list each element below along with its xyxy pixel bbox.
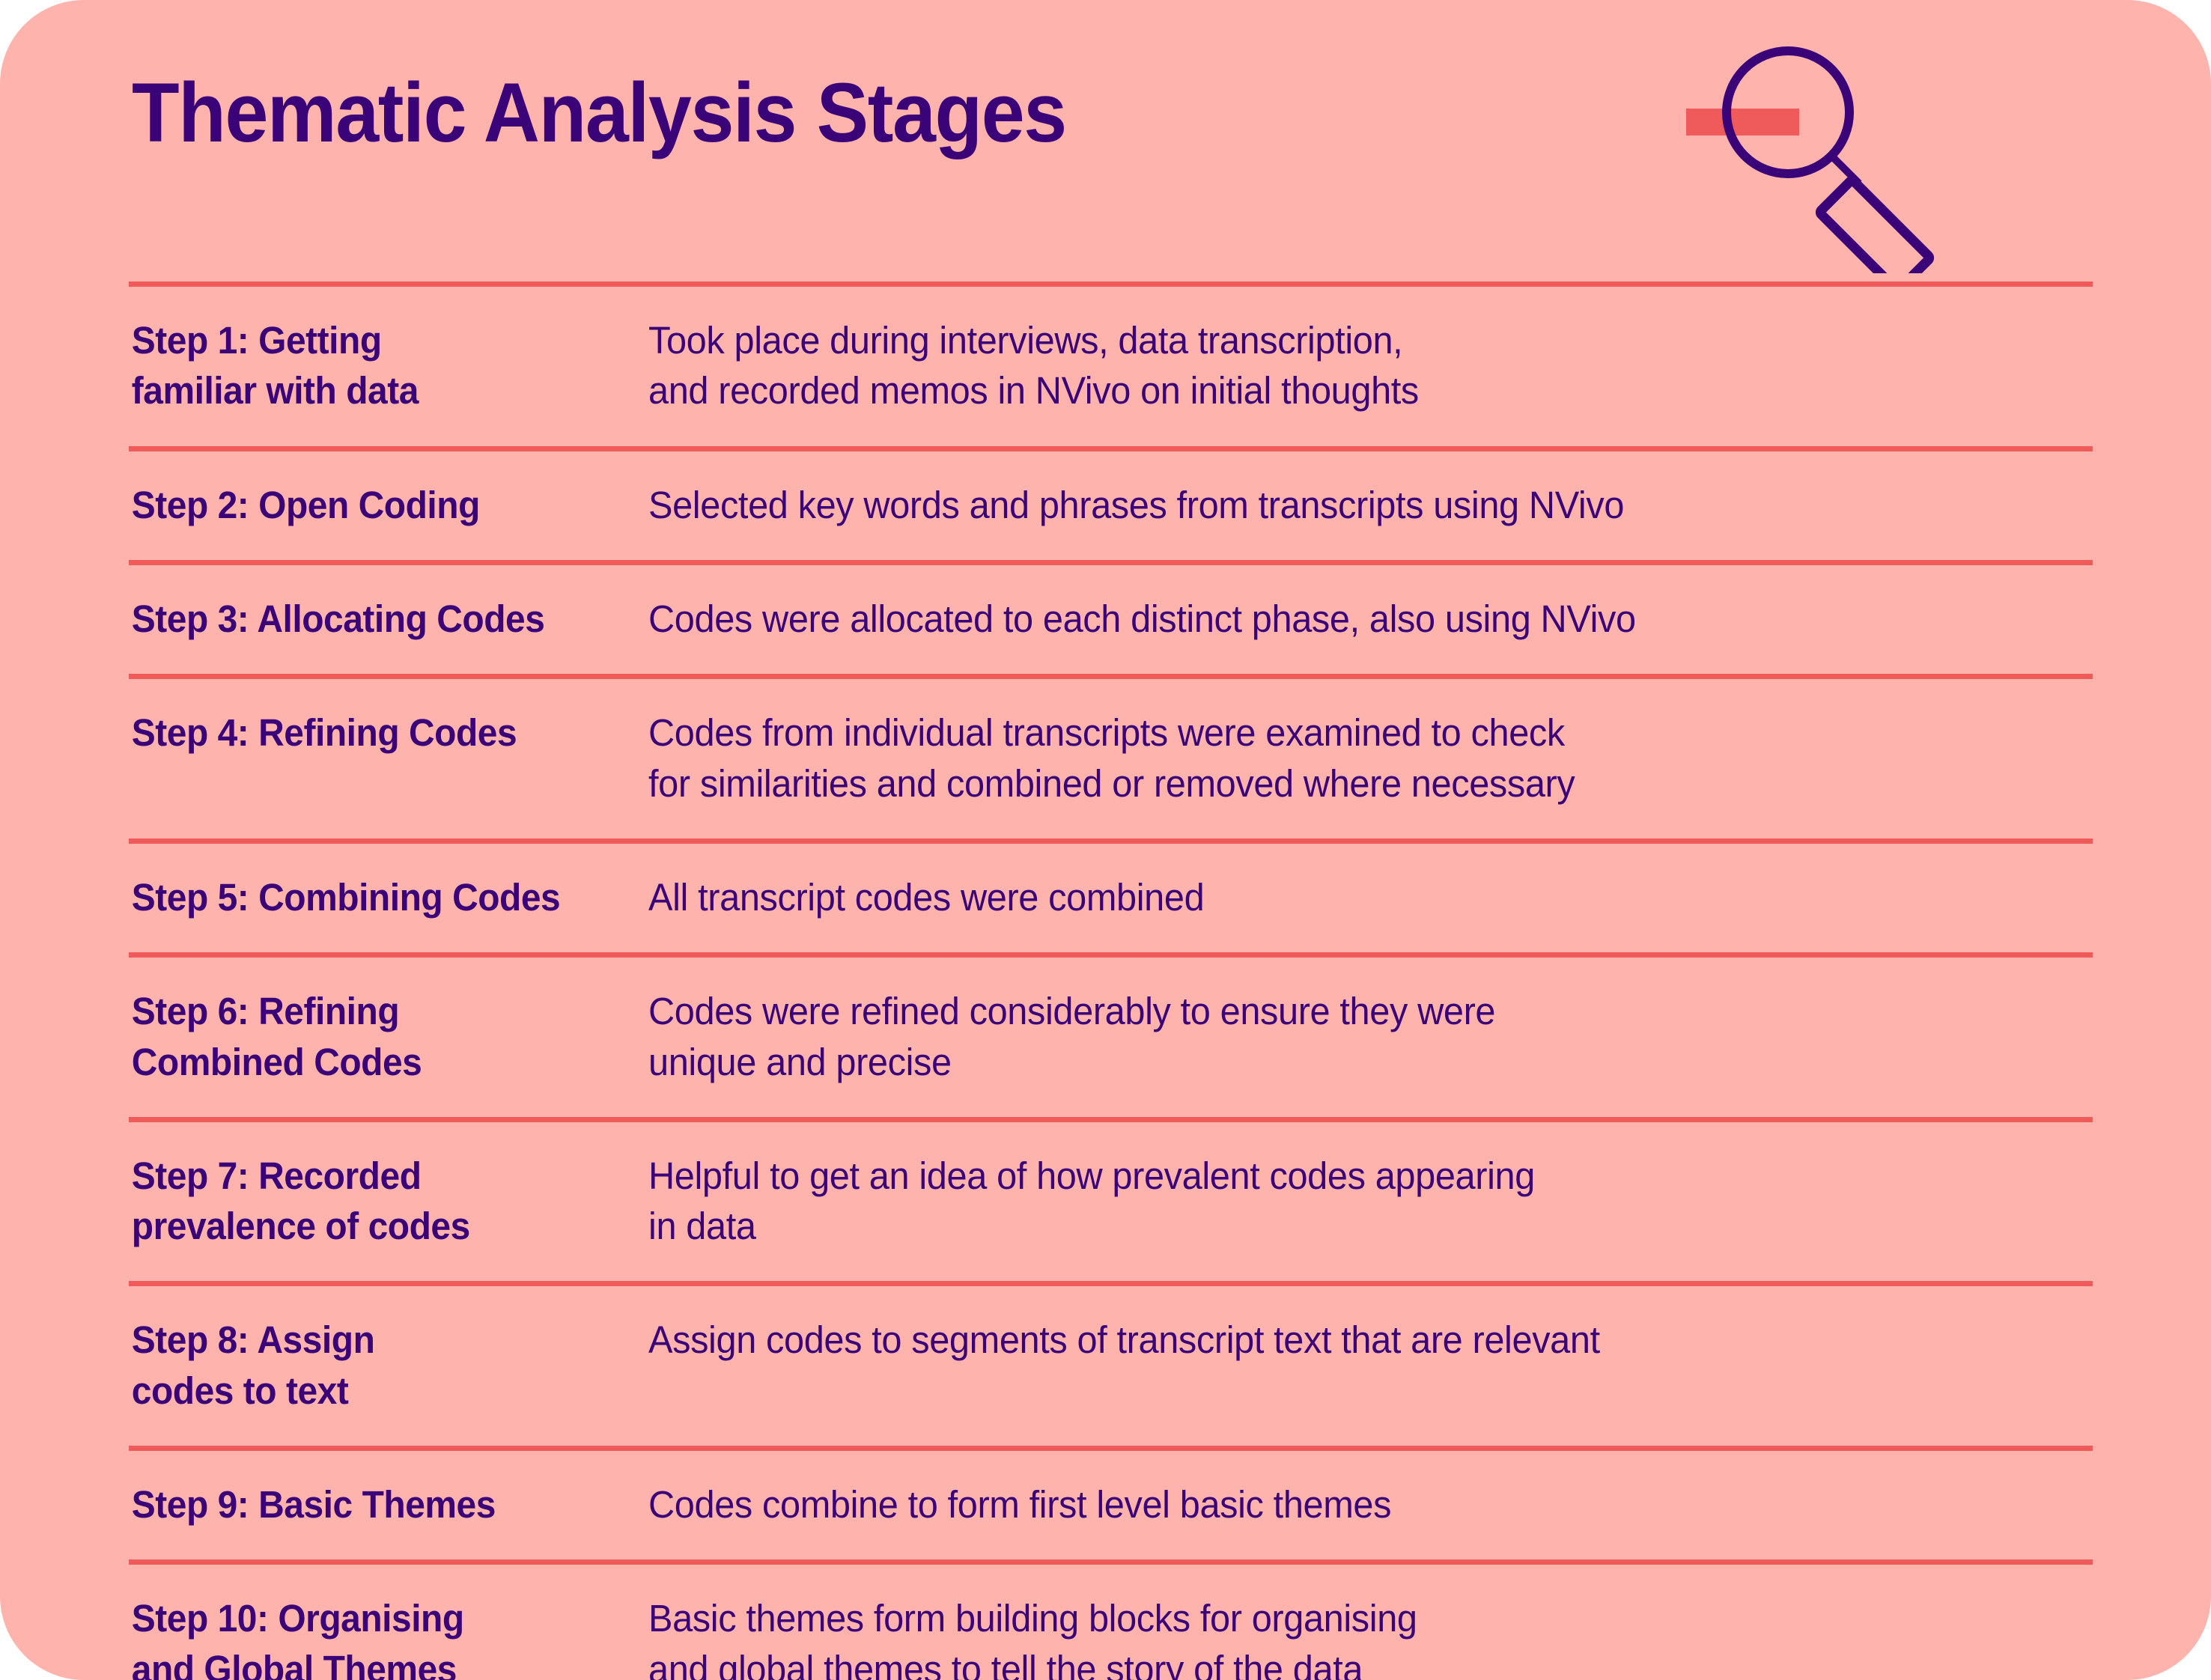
step-description: Selected key words and phrases from tran… (648, 451, 2028, 560)
step-description: All transcript codes were combined (648, 844, 2028, 952)
step-label: Step 1: Getting familiar with data (129, 287, 617, 446)
step-label-line: Combined Codes (132, 1037, 618, 1087)
step-description: Took place during interviews, data trans… (648, 287, 2028, 446)
step-label-line: familiar with data (132, 365, 618, 416)
table-row: Step 2: Open Coding Selected key words a… (129, 446, 2093, 560)
step-description: Helpful to get an idea of how prevalent … (648, 1122, 2028, 1282)
step-label: Step 3: Allocating Codes (129, 565, 617, 674)
step-description: Codes combine to form first level basic … (648, 1451, 2028, 1559)
step-description-line: and recorded memos in NVivo on initial t… (648, 365, 2028, 416)
step-label: Step 4: Refining Codes (129, 679, 617, 788)
table-row: Step 10: Organising and Global Themes Ba… (129, 1559, 2093, 1680)
step-label-line: Step 4: Refining Codes (132, 707, 618, 758)
table-row: Step 8: Assign codes to text Assign code… (129, 1281, 2093, 1446)
table-row: Step 3: Allocating Codes Codes were allo… (129, 560, 2093, 674)
step-description: Codes were allocated to each distinct ph… (648, 565, 2028, 674)
step-description-line: for similarities and combined or removed… (648, 758, 2028, 809)
coral-highlight-bar (1686, 109, 1799, 136)
step-description: Assign codes to segments of transcript t… (648, 1286, 2028, 1395)
table-row: Step 7: Recorded prevalence of codes Hel… (129, 1117, 2093, 1282)
step-description-line: unique and precise (648, 1037, 2028, 1087)
table-row: Step 4: Refining Codes Codes from indivi… (129, 674, 2093, 839)
step-description-line: Codes were refined considerably to ensur… (648, 986, 2028, 1036)
step-label-line: Step 8: Assign (132, 1315, 618, 1365)
step-description: Basic themes form building blocks for or… (648, 1565, 2028, 1680)
page-title: Thematic Analysis Stages (132, 69, 1066, 157)
step-label: Step 2: Open Coding (129, 451, 617, 560)
step-label: Step 8: Assign codes to text (129, 1286, 617, 1446)
step-label-line: Step 2: Open Coding (132, 480, 618, 530)
step-description-line: Helpful to get an idea of how prevalent … (648, 1151, 2028, 1201)
step-label-line: codes to text (132, 1366, 618, 1416)
infographic-card: Thematic Analysis Stages Step 1: Getting… (0, 0, 2211, 1680)
step-description-line: Basic themes form building blocks for or… (648, 1593, 2028, 1643)
step-label: Step 10: Organising and Global Themes (129, 1565, 617, 1680)
steps-table: Step 1: Getting familiar with data Took … (129, 281, 2093, 1680)
step-label: Step 7: Recorded prevalence of codes (129, 1122, 617, 1282)
step-description-line: Codes from individual transcripts were e… (648, 707, 2028, 758)
step-label-line: Step 5: Combining Codes (132, 872, 618, 922)
table-row: Step 6: Refining Combined Codes Codes we… (129, 952, 2093, 1117)
step-label-line: and Global Themes (132, 1644, 618, 1680)
step-description: Codes from individual transcripts were e… (648, 679, 2028, 839)
step-description-line: and global themes to tell the story of t… (648, 1644, 2028, 1680)
magnifier-handle (1819, 180, 1930, 273)
magnifying-glass-icon (1666, 19, 2018, 273)
step-description: Codes were refined considerably to ensur… (648, 958, 2028, 1117)
step-description-line: Assign codes to segments of transcript t… (648, 1315, 2028, 1365)
step-label-line: Step 6: Refining (132, 986, 618, 1036)
step-label-line: Step 7: Recorded (132, 1151, 618, 1201)
step-label: Step 6: Refining Combined Codes (129, 958, 617, 1117)
step-label-line: Step 1: Getting (132, 315, 618, 365)
step-label: Step 5: Combining Codes (129, 844, 617, 952)
step-label-line: prevalence of codes (132, 1201, 618, 1251)
table-row: Step 5: Combining Codes All transcript c… (129, 839, 2093, 952)
step-description-line: Codes were allocated to each distinct ph… (648, 594, 2028, 644)
step-label-line: Step 9: Basic Themes (132, 1479, 618, 1530)
step-label: Step 9: Basic Themes (129, 1451, 617, 1559)
step-label-line: Step 3: Allocating Codes (132, 594, 618, 644)
header: Thematic Analysis Stages (0, 0, 2211, 277)
step-description-line: in data (648, 1201, 2028, 1251)
table-row: Step 9: Basic Themes Codes combine to fo… (129, 1446, 2093, 1559)
step-description-line: Codes combine to form first level basic … (648, 1479, 2028, 1530)
table-row: Step 1: Getting familiar with data Took … (129, 281, 2093, 446)
step-description-line: All transcript codes were combined (648, 872, 2028, 922)
step-description-line: Took place during interviews, data trans… (648, 315, 2028, 365)
step-label-line: Step 10: Organising (132, 1593, 618, 1643)
step-description-line: Selected key words and phrases from tran… (648, 480, 2028, 530)
